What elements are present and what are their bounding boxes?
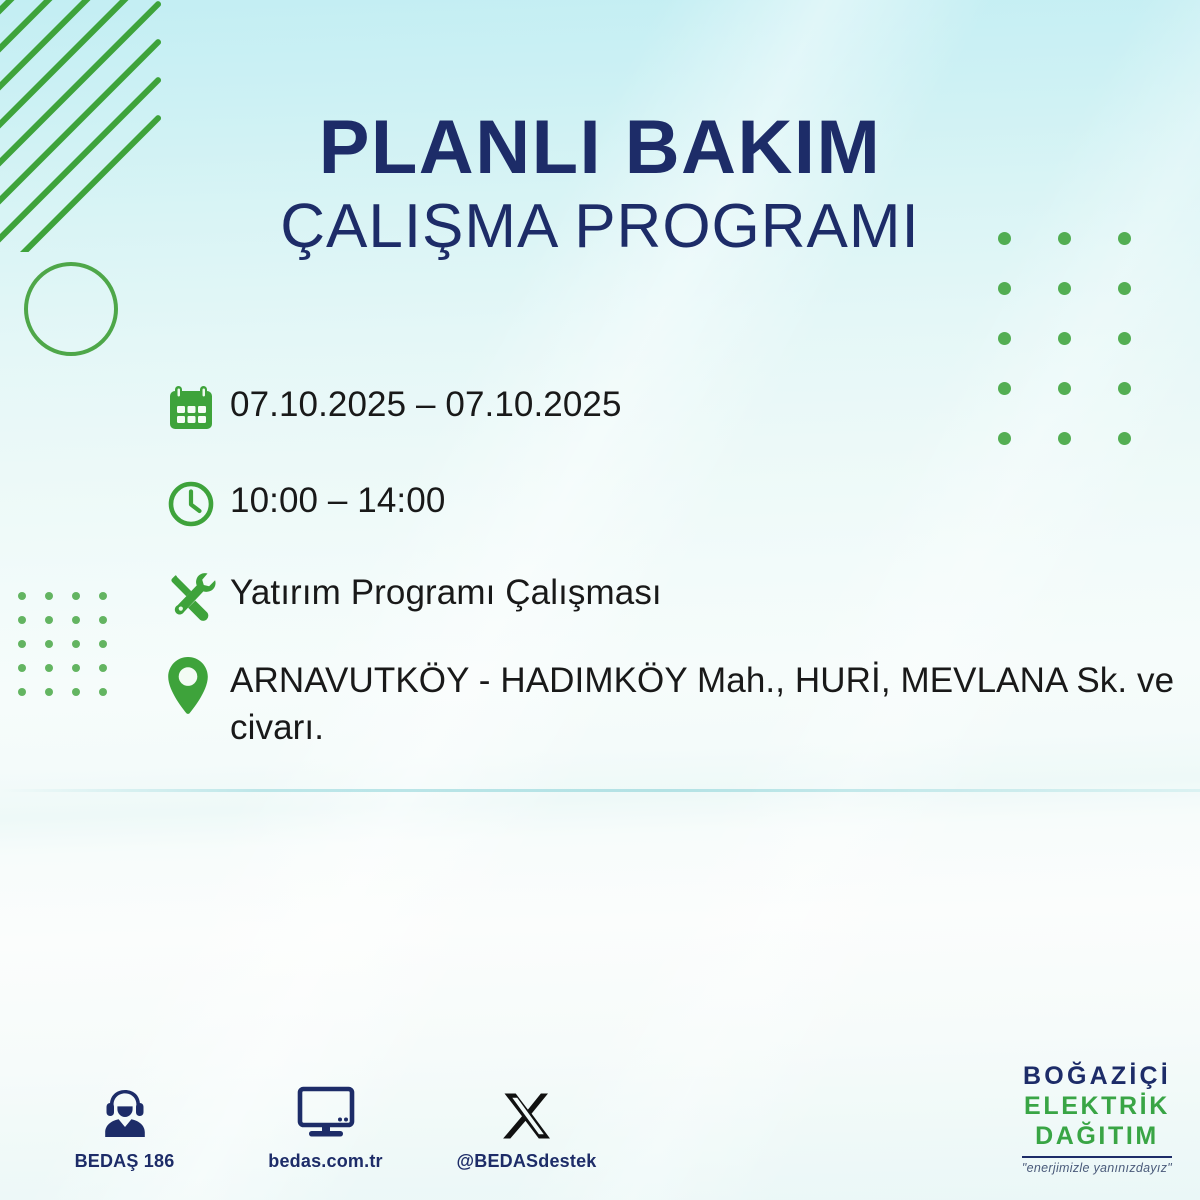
location-pin-icon: [166, 654, 230, 714]
monitor-icon: [253, 1080, 398, 1142]
contact-phone-label: BEDAŞ 186: [52, 1151, 197, 1172]
info-row-work-type: Yatırım Programı Çalışması: [166, 566, 1176, 624]
info-list: 07.10.2025 – 07.10.2025 10:00 – 14:00: [166, 378, 1176, 752]
tools-icon: [166, 566, 230, 624]
info-row-time-label: 10:00 – 14:00: [230, 474, 445, 525]
page-subtitle: ÇALIŞMA PROGRAMI: [0, 196, 1200, 258]
contact-website[interactable]: bedas.com.tr: [253, 1080, 398, 1172]
info-row-date-label: 07.10.2025 – 07.10.2025: [230, 378, 622, 429]
page-title: PLANLI BAKIM: [0, 112, 1200, 184]
info-row-date: 07.10.2025 – 07.10.2025: [166, 378, 1176, 438]
info-row-work-type-label: Yatırım Programı Çalışması: [230, 566, 662, 617]
dot-grid-left-decoration: [18, 592, 126, 712]
clock-icon: [166, 474, 230, 534]
contact-x-handle[interactable]: @BEDASdestek: [454, 1080, 599, 1172]
brand-logo: BOĞAZİÇİ ELEKTRİK DAĞITIM "enerjimizle y…: [1022, 1064, 1172, 1175]
brand-logo-tagline: "enerjimizle yanınızdayız": [1022, 1162, 1172, 1175]
background-horizon-band: [0, 789, 1200, 792]
contact-website-label: bedas.com.tr: [253, 1151, 398, 1172]
contact-phone[interactable]: BEDAŞ 186: [52, 1080, 197, 1172]
brand-logo-line2: ELEKTRİK: [1022, 1094, 1172, 1119]
brand-logo-line3: DAĞITIM: [1022, 1124, 1172, 1149]
info-row-location: ARNAVUTKÖY - HADIMKÖY Mah., HURİ, MEVLAN…: [166, 654, 1176, 752]
headset-agent-icon: [52, 1080, 197, 1142]
contact-x-handle-label: @BEDASdestek: [454, 1151, 599, 1172]
page-title-block: PLANLI BAKIM ÇALIŞMA PROGRAMI: [0, 112, 1200, 258]
footer-contacts: BEDAŞ 186 bedas.com.tr @BEDASdestek: [52, 1080, 599, 1172]
x-twitter-icon: [454, 1080, 599, 1142]
circle-outline-decoration: [24, 262, 118, 356]
info-row-time: 10:00 – 14:00: [166, 474, 1176, 534]
info-row-location-label: ARNAVUTKÖY - HADIMKÖY Mah., HURİ, MEVLAN…: [230, 654, 1176, 752]
brand-logo-divider: [1022, 1156, 1172, 1158]
calendar-icon: [166, 378, 230, 438]
poster-canvas: PLANLI BAKIM ÇALIŞMA PROGRAMI: [0, 0, 1200, 1200]
brand-logo-line1: BOĞAZİÇİ: [1022, 1064, 1172, 1089]
